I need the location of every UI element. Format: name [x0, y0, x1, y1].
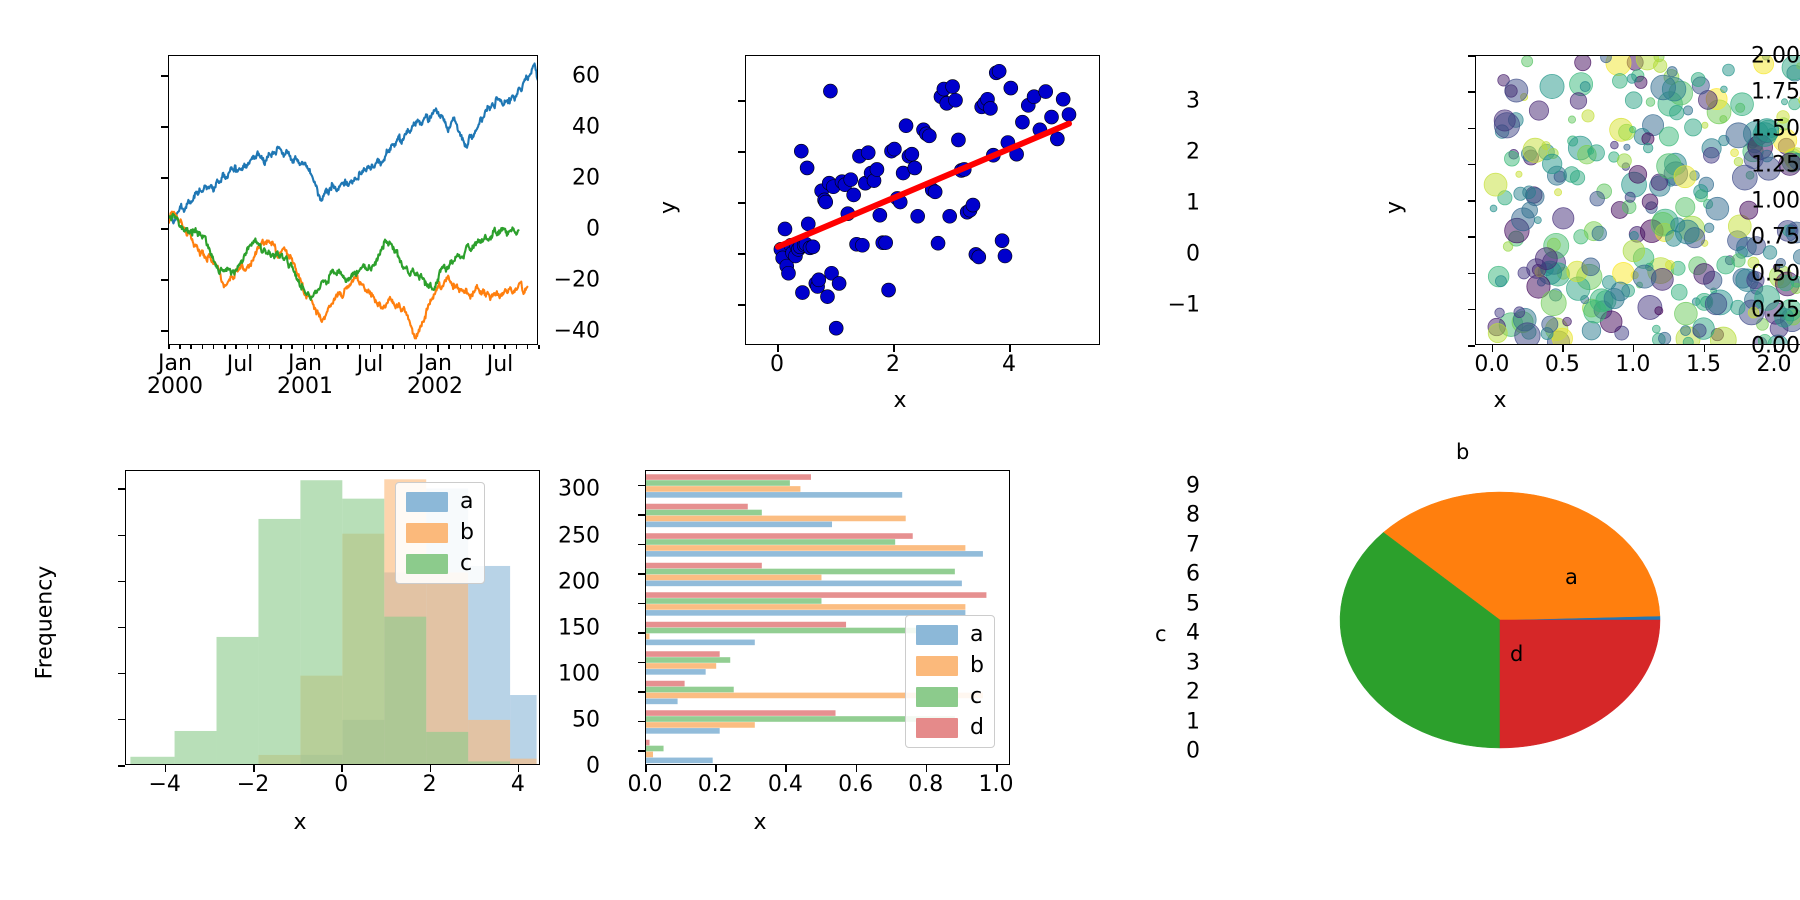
ytick-label: 0	[1163, 739, 1200, 764]
ytick-mark	[118, 719, 125, 721]
xtick-mark-minor	[527, 345, 529, 349]
xtick-mark	[856, 765, 858, 772]
xtick-label: 0	[334, 772, 348, 797]
xtick-mark-minor	[471, 345, 473, 349]
ytick-mark	[638, 514, 645, 516]
ytick-label: 0.25	[1535, 297, 1800, 322]
xtick-mark	[1704, 345, 1706, 352]
xtick-label: Jan 2002	[407, 352, 463, 398]
xtick-mark-minor	[269, 345, 271, 349]
matplotlib-figure: 60 40 20 0 −20 −40 Jan 2000 Jan 2000 Jul…	[0, 0, 1800, 900]
xtick-label: 0.0	[628, 772, 663, 797]
xtick-label: 0.6	[838, 772, 873, 797]
xtick-mark-minor	[359, 345, 361, 349]
scatter-regression-canvas	[746, 56, 1100, 345]
ytick-label: 100	[485, 661, 600, 686]
ytick-label: 5	[1163, 591, 1200, 616]
ytick-label: 1.75	[1535, 80, 1800, 105]
ytick-label: 20	[442, 166, 600, 191]
xtick-mark-minor	[381, 345, 383, 349]
ytick-mark	[118, 673, 125, 675]
ytick-label: 150	[485, 615, 600, 640]
xtick-mark	[996, 765, 998, 772]
ytick-label: 2	[1065, 140, 1200, 165]
xtick-mark-minor	[235, 345, 237, 349]
xtick-label: 4	[511, 772, 525, 797]
legend-item-b[interactable]: b	[406, 522, 474, 544]
xtick-mark-minor	[202, 345, 204, 349]
xtick-mark-minor	[258, 345, 260, 349]
xtick-mark	[518, 765, 520, 772]
xtick-mark-minor	[291, 345, 293, 349]
ytick-mark	[1468, 91, 1475, 93]
xtick-label: Jul	[357, 352, 384, 377]
xtick-mark-minor	[224, 345, 226, 349]
xtick-mark-minor	[190, 345, 192, 349]
ytick-mark	[118, 581, 125, 583]
ytick-mark	[1468, 309, 1475, 311]
xtick-label: 0.2	[698, 772, 733, 797]
ytick-label: 6	[1163, 562, 1200, 587]
ytick-mark	[118, 535, 125, 537]
xtick-mark-minor	[325, 345, 327, 349]
xtick-label: Jul	[487, 352, 514, 377]
ytick-mark	[638, 691, 645, 693]
pie-canvas	[1200, 450, 1800, 900]
barh-xlabel: x	[460, 810, 1060, 835]
ytick-mark	[1468, 345, 1475, 347]
xtick-mark	[1562, 345, 1564, 352]
ytick-mark	[1468, 200, 1475, 202]
ytick-label: 2.00	[1535, 44, 1800, 69]
legend-swatch-c	[916, 687, 958, 707]
xtick-mark-major	[370, 345, 372, 352]
ytick-mark	[161, 279, 168, 281]
pie-label-c: c	[1155, 622, 1167, 646]
ytick-label: 1.25	[1535, 152, 1800, 177]
legend-item-c[interactable]: c	[406, 553, 474, 575]
xtick-year: 2002	[407, 375, 463, 398]
ytick-label: −20	[442, 268, 600, 293]
ytick-mark	[1468, 236, 1475, 238]
xtick-mark	[430, 765, 432, 772]
ytick-mark	[1468, 55, 1475, 57]
panel-timeseries: 60 40 20 0 −20 −40 Jan 2000 Jan 2000 Jul…	[0, 0, 600, 450]
xtick-label: 1.0	[1615, 352, 1650, 377]
xtick-year: 2000	[147, 375, 203, 398]
ytick-mark	[638, 632, 645, 634]
xtick-mark-minor	[516, 345, 518, 349]
ytick-label: 4	[1163, 621, 1200, 646]
xtick-label: 2	[886, 352, 900, 377]
ytick-label: 3	[1065, 89, 1200, 114]
xtick-label: 0.0	[1474, 352, 1509, 377]
ytick-label: 3	[1163, 650, 1200, 675]
legend-swatch-a	[916, 625, 958, 645]
xtick-label: Jan 2000 Jan 2000	[147, 352, 203, 398]
xtick-label: 2.0	[1757, 352, 1792, 377]
ytick-mark	[161, 177, 168, 179]
ytick-mark	[118, 765, 125, 767]
ytick-mark	[638, 544, 645, 546]
ytick-label: 250	[485, 523, 600, 548]
ytick-label: 0	[485, 754, 600, 779]
histogram-legend[interactable]: a b c	[395, 482, 485, 584]
timeseries-axes	[168, 55, 538, 345]
legend-item-d[interactable]: d	[916, 717, 984, 739]
ytick-mark	[638, 662, 645, 664]
ytick-mark	[1468, 273, 1475, 275]
ytick-mark	[1468, 164, 1475, 166]
ytick-label: 300	[485, 477, 600, 502]
xtick-mark-minor	[460, 345, 462, 349]
ytick-mark	[118, 488, 125, 490]
xtick-mark-minor	[448, 345, 450, 349]
legend-label-c: c	[970, 686, 982, 708]
xtick-mark	[893, 345, 895, 352]
ytick-label: 1.50	[1535, 116, 1800, 141]
legend-swatch-c	[406, 554, 448, 574]
ytick-label: 1	[1163, 709, 1200, 734]
ytick-mark	[118, 627, 125, 629]
ytick-label: 40	[442, 115, 600, 140]
ytick-mark	[161, 330, 168, 332]
xtick-mark-minor	[247, 345, 249, 349]
pie-label-b: b	[1456, 440, 1469, 464]
xtick-mark	[1633, 345, 1635, 352]
scatter-xlabel: x	[600, 388, 1200, 413]
ytick-label: 200	[485, 569, 600, 594]
legend-item-b[interactable]: b	[916, 655, 984, 677]
ytick-label: 2	[1163, 680, 1200, 705]
ytick-mark	[1468, 128, 1475, 130]
histogram-ylabel: Frequency	[32, 566, 57, 680]
xtick-mark	[165, 765, 167, 772]
xtick-month: Jan	[147, 352, 203, 375]
ytick-mark	[638, 485, 645, 487]
xtick-mark-major	[303, 345, 305, 352]
ytick-label: 1.00	[1535, 189, 1800, 214]
xtick-mark	[1774, 345, 1776, 352]
ytick-label: 0	[442, 217, 600, 242]
ytick-mark	[738, 202, 745, 204]
xtick-mark-minor	[538, 345, 540, 349]
legend-label-d: d	[970, 717, 984, 739]
xtick-label: −4	[148, 772, 180, 797]
legend-label-a: a	[970, 624, 983, 646]
panel-scatter-regression: 3 2 1 0 −1 0 2 4 y x	[600, 0, 1200, 450]
xtick-mark	[715, 765, 717, 772]
xtick-label: 4	[1002, 352, 1016, 377]
xtick-mark-minor	[426, 345, 428, 349]
scatter-regression-axes	[745, 55, 1100, 345]
xtick-label: 1.0	[979, 772, 1014, 797]
xtick-label: −2	[237, 772, 269, 797]
xtick-mark	[777, 345, 779, 352]
ytick-mark	[638, 573, 645, 575]
xtick-mark	[785, 765, 787, 772]
ytick-label: 0.75	[1535, 225, 1800, 250]
ytick-mark	[738, 100, 745, 102]
xtick-mark-minor	[336, 345, 338, 349]
legend-swatch-b	[406, 523, 448, 543]
xtick-label: 1.5	[1686, 352, 1721, 377]
ytick-label: −1	[1065, 293, 1200, 318]
panel-bubble-scatter: 0.000.250.500.751.001.251.501.752.00 0.0…	[1200, 0, 1800, 450]
xtick-mark	[253, 765, 255, 772]
ytick-mark	[738, 151, 745, 153]
legend-swatch-b	[916, 656, 958, 676]
legend-label-b: b	[460, 522, 474, 544]
ytick-mark	[638, 721, 645, 723]
legend-label-c: c	[460, 553, 472, 575]
pie-label-a: a	[1565, 565, 1578, 589]
xtick-mark-minor	[168, 345, 170, 349]
xtick-label: 2	[423, 772, 437, 797]
xtick-mark-minor	[404, 345, 406, 349]
legend-item-c[interactable]: c	[916, 686, 984, 708]
xtick-mark	[1009, 345, 1011, 352]
bubble-xlabel: x	[1200, 388, 1800, 413]
xtick-label: 0.5	[1545, 352, 1580, 377]
ytick-mark	[638, 750, 645, 752]
ytick-label: −40	[442, 319, 600, 344]
ytick-mark	[161, 228, 168, 230]
xtick-month: Jan	[407, 352, 463, 375]
xtick-mark-minor	[415, 345, 417, 349]
xtick-mark-major	[437, 345, 439, 352]
xtick-mark-minor	[213, 345, 215, 349]
xtick-year: 2001	[277, 375, 333, 398]
panel-pie: a b c d	[1200, 450, 1800, 900]
ytick-mark	[738, 304, 745, 306]
legend-swatch-d	[916, 718, 958, 738]
ytick-label: 1	[1065, 191, 1200, 216]
legend-item-a[interactable]: a	[916, 624, 984, 646]
xtick-mark-minor	[280, 345, 282, 349]
xtick-label: Jul	[227, 352, 254, 377]
xtick-mark-minor	[347, 345, 349, 349]
ytick-mark	[161, 75, 168, 77]
xtick-mark-minor	[482, 345, 484, 349]
timeseries-lines	[169, 56, 538, 345]
xtick-mark-minor	[179, 345, 181, 349]
legend-label-b: b	[970, 655, 984, 677]
xtick-label: 0.4	[768, 772, 803, 797]
ytick-label: 8	[1163, 503, 1200, 528]
pie-label-d: d	[1510, 642, 1523, 666]
xtick-mark-minor	[493, 345, 495, 349]
legend-swatch-a	[406, 492, 448, 512]
ytick-label: 60	[442, 64, 600, 89]
barh-legend[interactable]: a b c d	[905, 615, 995, 748]
xtick-mark-minor	[504, 345, 506, 349]
xtick-mark-minor	[392, 345, 394, 349]
ytick-label: 7	[1163, 532, 1200, 557]
xtick-mark	[645, 765, 647, 772]
xtick-mark	[1492, 345, 1494, 352]
ytick-label: 0.50	[1535, 261, 1800, 286]
ytick-mark	[738, 253, 745, 255]
xtick-month: Jan	[277, 352, 333, 375]
ytick-label: 0	[1065, 242, 1200, 267]
ytick-label: 9	[1163, 473, 1200, 498]
xtick-label: Jan 2001	[277, 352, 333, 398]
xtick-mark	[926, 765, 928, 772]
panel-barh: 0123456789 0.00.20.40.60.81.0 x a b c d	[600, 450, 1200, 900]
xtick-mark-minor	[314, 345, 316, 349]
xtick-label: 0.8	[908, 772, 943, 797]
legend-item-a[interactable]: a	[406, 491, 474, 513]
ytick-label: 50	[485, 707, 600, 732]
ytick-mark	[161, 126, 168, 128]
ytick-mark	[638, 603, 645, 605]
xtick-mark	[341, 765, 343, 772]
scatter-ylabel: y	[656, 201, 681, 214]
xtick-label: 0	[770, 352, 784, 377]
bubble-ylabel: y	[1382, 201, 1407, 214]
legend-label-a: a	[460, 491, 473, 513]
